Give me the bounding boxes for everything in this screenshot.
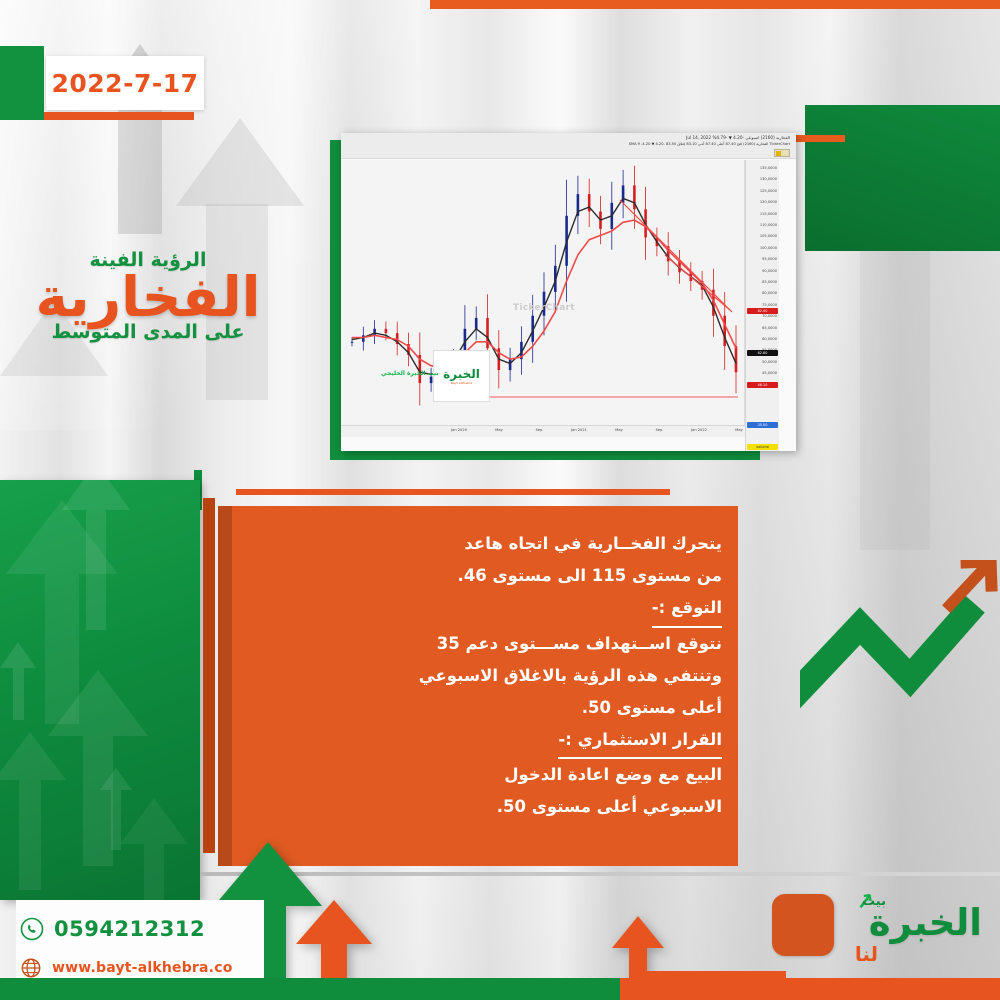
y-tick-label: 105,0000	[760, 234, 777, 238]
analysis-panel: يتحرك الفخــارية في اتجاه هاعد من مستوى …	[218, 506, 738, 866]
y-tick-label: 95,0000	[762, 257, 777, 261]
date-text: 2022-7-17	[51, 69, 198, 98]
date-underline	[44, 112, 194, 120]
panel-top-rule	[236, 489, 670, 495]
y-tick-label: 130,0000	[760, 177, 777, 181]
x-tick-label: Sep	[536, 428, 543, 432]
brand-logo-word: الخبرة	[869, 904, 982, 941]
analysis-line-3: نتوقع اســتهداف مســـتوى دعم 35	[252, 628, 722, 660]
green-arrow-panel	[0, 480, 200, 900]
brand-logo-foot: لنا	[855, 942, 878, 966]
website-contact-row[interactable]: www.bayt-alkhebra.co	[20, 957, 233, 979]
y-tick-label: 115,0000	[760, 212, 777, 216]
brand-logo: ↗ بيت الخبرة لنا	[772, 890, 982, 968]
decorative-bar	[118, 104, 162, 234]
current-close-marker[interactable]: 46.10	[747, 382, 778, 388]
y-tick-label: 100,0000	[760, 246, 777, 250]
y-tick-label: 45,0000	[762, 371, 777, 375]
trend-zigzag-graphic	[800, 560, 1000, 760]
chart-screenshot-card: الفخارية (2160) اسبوعي -4.20 ▼ -4.79% Ju…	[341, 133, 796, 451]
y-tick-label: 70,0000	[762, 314, 777, 318]
x-tick-label: May	[495, 428, 502, 432]
date-badge: 2022-7-17	[46, 56, 204, 110]
resistance-marker[interactable]: 82.00	[747, 308, 778, 314]
x-tick-label: 2022 Jan	[691, 428, 707, 432]
page-title: الفخارية	[18, 269, 278, 325]
chart-ticker-line: الفخارية (2160) اسبوعي -4.20 ▼ -4.79% Ju…	[686, 135, 790, 140]
last-price-marker[interactable]: 62.80	[747, 350, 778, 356]
chart-y-axis[interactable]: 135,0000130,0000125,0000120,0000115,0000…	[745, 160, 779, 451]
x-tick-label: 2020 Jan	[451, 428, 467, 432]
bottom-orange-accent	[646, 971, 786, 978]
green-panel-shadow	[203, 498, 215, 853]
analysis-line-4: وتنتفي هذه الرؤية بالاغلاق الاسبوعي	[252, 660, 722, 692]
y-tick-label: 50,0000	[762, 360, 777, 364]
analysis-line-2: من مستوى 115 الى مستوى 46.	[252, 560, 722, 592]
x-tick-label: May	[615, 428, 622, 432]
bottom-orange-bar	[620, 978, 1000, 1000]
chart-plot-area: TickerChart الخبرة Bayt Alkhebra بيت الخ…	[341, 160, 745, 425]
globe-icon	[20, 957, 42, 979]
top-right-green-block	[805, 105, 1000, 251]
analysis-line-7: الاسبوعي أعلى مستوى 50.	[252, 791, 722, 823]
date-green-tab	[0, 46, 44, 120]
chart-x-axis[interactable]: 2020 JanMaySep2021 JanMaySep2022 JanMay	[341, 425, 745, 437]
poster-canvas: 2022-7-17 الرؤية الفينة الفخارية على الم…	[0, 0, 1000, 1000]
y-tick-label: 60,0000	[762, 337, 777, 341]
chart-toolbar: الفخارية (2160) اسبوعي -4.20 ▼ -4.79% Ju…	[341, 133, 796, 159]
panel-arrow-3	[0, 642, 36, 720]
x-tick-label: May	[735, 428, 742, 432]
y-tick-label: 120,0000	[760, 200, 777, 204]
chart-toolbar-button[interactable]	[774, 149, 790, 157]
price-chart-svg	[341, 160, 744, 425]
decorative-bar-3	[860, 250, 930, 550]
analysis-text: يتحرك الفخــارية في اتجاه هاعد من مستوى …	[252, 528, 722, 824]
analysis-line-6: البيع مع وضع اعادة الدخول	[252, 759, 722, 791]
chart-logo-caption: بيت الخبرة الخليجي	[381, 370, 439, 377]
website-url: www.bayt-alkhebra.co	[52, 960, 233, 976]
chart-logo-sub: Bayt Alkhebra	[451, 381, 472, 385]
whatsapp-icon	[20, 917, 44, 941]
panel-arrow-7	[120, 798, 188, 900]
trend-line-upper	[620, 200, 732, 312]
y-tick-label: 125,0000	[760, 189, 777, 193]
y-tick-label: 90,0000	[762, 269, 777, 273]
panel-arrow-5	[0, 732, 66, 890]
whatsapp-contact-row[interactable]: 0594212312	[20, 917, 205, 941]
x-tick-label: Sep	[656, 428, 663, 432]
panel-arrow-2	[62, 480, 130, 630]
chart-ohlc-line: TickerChart الفخارية (2160) فتح 87.40 أع…	[629, 142, 790, 146]
brand-logo-square	[772, 894, 834, 956]
analysis-heading-decision: القرار الاستثماري :-	[558, 724, 722, 759]
phone-number: 0594212312	[54, 917, 205, 941]
chart-logo-word: الخبرة	[443, 368, 480, 380]
chart-watermark: TickerChart	[513, 303, 575, 313]
y-tick-label: 75,0000	[762, 303, 777, 307]
analysis-line-5: أعلى مستوى 50.	[252, 692, 722, 724]
chart-embedded-logo: الخبرة Bayt Alkhebra	[433, 350, 490, 402]
panel-left-shade	[218, 506, 232, 866]
y-tick-label: 110,0000	[760, 223, 777, 227]
y-tick-label: 80,0000	[762, 291, 777, 295]
title-block: الرؤية الفينة الفخارية على المدى المتوسط	[18, 250, 278, 343]
analysis-line-1: يتحرك الفخــارية في اتجاه هاعد	[252, 528, 722, 560]
y-tick-label: 135,0000	[760, 166, 777, 170]
y-tick-label: 85,0000	[762, 280, 777, 284]
top-accent-strip	[430, 0, 1000, 9]
trend-line-lower	[665, 255, 730, 310]
title-subtitle: على المدى المتوسط	[18, 322, 278, 343]
y-tick-label: 65,0000	[762, 326, 777, 330]
bottom-green-bar	[0, 978, 620, 1000]
x-tick-label: 2021 Jan	[571, 428, 587, 432]
decorative-triangle-2	[176, 118, 304, 206]
volume-marker[interactable]: volume	[747, 444, 778, 450]
support-marker[interactable]: 35.00	[747, 422, 778, 428]
analysis-heading-forecast: التوقع :-	[652, 592, 722, 627]
